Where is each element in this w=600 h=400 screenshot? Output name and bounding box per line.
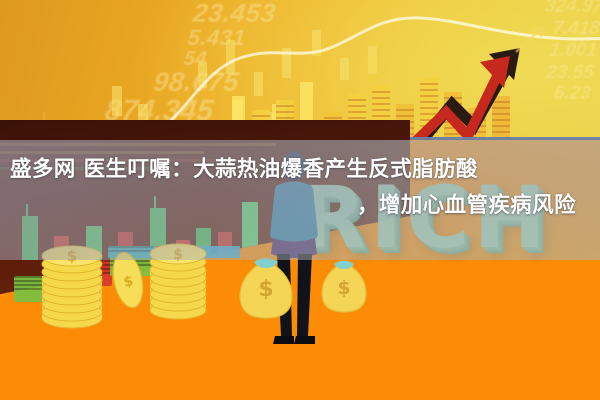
svg-text:$: $ [337,277,350,299]
headline-line-1: 盛多网 医生叮嘱：大蒜热油爆香产生反式脂肪酸 [10,152,590,188]
headline: 盛多网 医生叮嘱：大蒜热油爆香产生反式脂肪酸 ，增加心血管疾病风险 [0,152,600,224]
thumbnail-canvas: 23.453 5.431 54 98.675 874.345 5.309 2.3… [0,0,600,400]
svg-text:$: $ [258,277,273,302]
money-bag: $ [240,258,292,318]
money-bag: $ [322,261,366,313]
headline-line-2: ，增加心血管疾病风险 [10,188,590,224]
